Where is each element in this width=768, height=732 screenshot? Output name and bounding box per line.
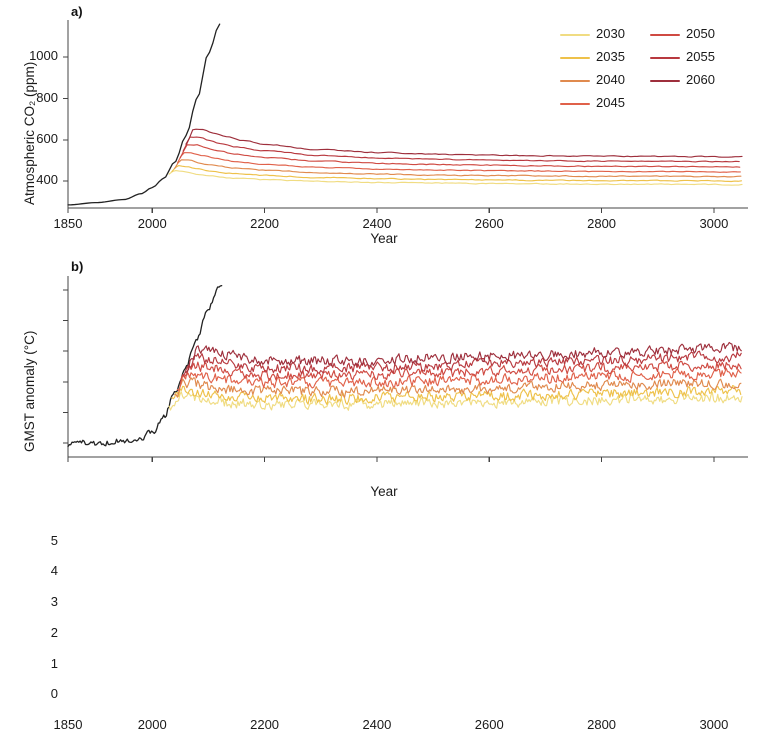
legend-swatch-2060 — [650, 80, 680, 82]
series-line-baseline — [68, 24, 220, 205]
x-tick-label: 2000 — [112, 216, 192, 231]
x-tick-label: 2400 — [337, 216, 417, 231]
x-tick-label: 2600 — [449, 717, 529, 732]
y-tick-label: 0 — [6, 686, 58, 701]
x-tick-label: 1850 — [28, 216, 108, 231]
legend-label-2045: 2045 — [596, 95, 625, 110]
x-tick-label: 1850 — [28, 717, 108, 732]
x-tick-label: 2200 — [225, 717, 305, 732]
x-tick-label: 2800 — [562, 216, 642, 231]
legend-label-2055: 2055 — [686, 49, 715, 64]
series-line-2030 — [169, 171, 742, 186]
legend-swatch-2030 — [560, 34, 590, 36]
series-line-2040 — [175, 160, 741, 177]
y-tick-label: 1 — [6, 656, 58, 671]
legend-swatch-2035 — [560, 57, 590, 59]
legend-swatch-2055 — [650, 57, 680, 59]
y-tick-label: 800 — [6, 90, 58, 105]
legend-swatch-2050 — [650, 34, 680, 36]
x-tick-label: 3000 — [674, 216, 754, 231]
x-tick-label: 3000 — [674, 717, 754, 732]
x-tick-label: 2400 — [337, 717, 417, 732]
panel-a: a) Atmospheric CO₂ (ppm) Year 4006008001… — [0, 0, 768, 252]
x-tick-label: 2600 — [449, 216, 529, 231]
x-tick-label: 2800 — [562, 717, 642, 732]
panel-b: b) GMST anomaly (°C) Year 012345 1850200… — [0, 252, 768, 504]
y-tick-label: 2 — [6, 625, 58, 640]
legend-label-2030: 2030 — [596, 26, 625, 41]
series-line-2045 — [178, 153, 741, 173]
series-line-2060 — [186, 129, 742, 157]
y-tick-label: 600 — [6, 131, 58, 146]
x-tick-label: 2000 — [112, 717, 192, 732]
legend-swatch-2040 — [560, 80, 590, 82]
panel-b-plot — [0, 252, 768, 504]
y-tick-label: 1000 — [6, 48, 58, 63]
y-tick-label: 400 — [6, 172, 58, 187]
legend-swatch-2045 — [560, 103, 590, 105]
y-tick-label: 4 — [6, 563, 58, 578]
legend-label-2060: 2060 — [686, 72, 715, 87]
legend-label-2040: 2040 — [596, 72, 625, 87]
x-tick-label: 2200 — [225, 216, 305, 231]
legend-label-2035: 2035 — [596, 49, 625, 64]
y-tick-label: 3 — [6, 594, 58, 609]
legend: 2030203520402045 205020552060 — [560, 26, 760, 110]
legend-label-2050: 2050 — [686, 26, 715, 41]
figure-root: a) Atmospheric CO₂ (ppm) Year 4006008001… — [0, 0, 768, 504]
y-tick-label: 5 — [6, 533, 58, 548]
